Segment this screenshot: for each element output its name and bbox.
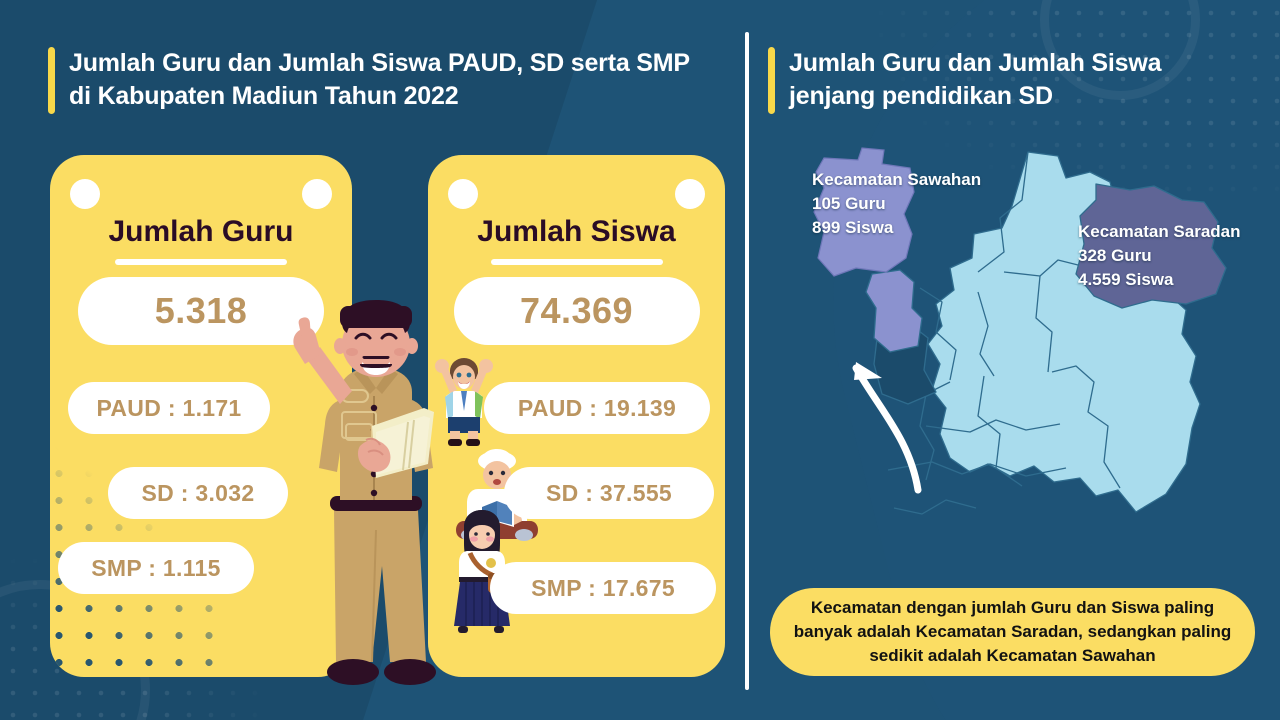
panel-divider [745,32,749,690]
teacher-pointing-with-book-illustration [276,300,476,720]
breakdown-pill-paud: PAUD : 1.171 [68,382,270,434]
card-heading: Jumlah Guru [50,215,352,249]
left-title-text: Jumlah Guru dan Jumlah Siswa PAUD, SD se… [69,47,708,114]
title-accent-bar [768,47,775,114]
card-total-value: 74.369 [520,290,633,332]
map-annotation-saradan: Kecamatan Saradan 328 Guru 4.559 Siswa [1078,220,1280,292]
breakdown-pill-sd: SD : 37.555 [504,467,714,519]
card-punch-hole-right [675,179,705,209]
card-heading: Jumlah Siswa [428,215,725,249]
map-annotation-sawahan: Kecamatan Sawahan 105 Guru 899 Siswa [812,168,1032,240]
madiun-district-map: Kecamatan Sawahan 105 Guru 899 Siswa Kec… [760,140,1270,570]
card-underline [491,259,663,265]
sawahan-student-count: 899 Siswa [812,216,1032,240]
card-underline [115,259,287,265]
breakdown-pill-smp: SMP : 1.115 [58,542,254,594]
right-panel-title: Jumlah Guru dan Jumlah Siswa jenjang pen… [768,47,1238,114]
card-punch-hole-right [302,179,332,209]
card-total-pill: 74.369 [454,277,700,345]
card-total-value: 5.318 [155,290,248,332]
breakdown-pill-sd: SD : 3.032 [108,467,288,519]
card-punch-hole-left [70,179,100,209]
saradan-student-count: 4.559 Siswa [1078,268,1280,292]
title-accent-bar [48,47,55,114]
summary-note-text: Kecamatan dengan jumlah Guru dan Siswa p… [792,596,1233,668]
card-punch-hole-left [448,179,478,209]
saradan-district-name: Kecamatan Saradan [1078,220,1280,244]
summary-note-box: Kecamatan dengan jumlah Guru dan Siswa p… [770,588,1255,676]
right-title-text: Jumlah Guru dan Jumlah Siswa jenjang pen… [789,47,1238,114]
sawahan-district-name: Kecamatan Sawahan [812,168,1032,192]
breakdown-pill-smp: SMP : 17.675 [490,562,716,614]
breakdown-pill-paud: PAUD : 19.139 [484,382,710,434]
infographic-canvas: Jumlah Guru dan Jumlah Siswa PAUD, SD se… [0,0,1280,720]
sawahan-teacher-count: 105 Guru [812,192,1032,216]
left-panel-title: Jumlah Guru dan Jumlah Siswa PAUD, SD se… [48,47,708,114]
saradan-teacher-count: 328 Guru [1078,244,1280,268]
